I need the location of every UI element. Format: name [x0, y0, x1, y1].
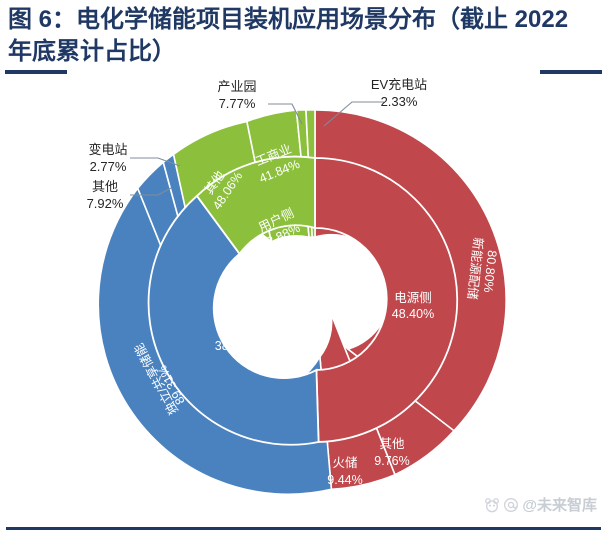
figure-title: 图 6：电化学储能项目装机应用场景分布（截止 2022 年底累计占比） — [8, 4, 598, 68]
watermark-text: @未来智库 — [522, 494, 597, 515]
callout-park-name: 产业园 — [217, 79, 256, 94]
inner-label-power-pct: 48.40% — [392, 307, 434, 321]
rule-top-right — [540, 70, 602, 74]
outer-label-power-other-name: 其他 — [379, 437, 405, 451]
outer-label-thermal-name: 火储 — [332, 455, 357, 470]
callout-ev-name: EV充电站 — [371, 78, 427, 92]
outer-label-power-other-pct: 9.76% — [374, 454, 409, 468]
inner-label-power-name: 电源侧 — [394, 291, 432, 305]
inner-label-grid-name: 电网侧 — [217, 323, 255, 337]
rule-top-left — [5, 70, 67, 74]
outer-label-thermal-pct: 9.44% — [327, 473, 362, 487]
callout-ev-pct: 2.33% — [381, 94, 418, 109]
figure-container: 图 6：电化学储能项目装机应用场景分布（截止 2022 年底累计占比） — [0, 0, 607, 539]
rule-bottom — [6, 527, 601, 530]
at-icon — [503, 497, 519, 513]
watermark: @未来智库 — [484, 494, 597, 515]
callout-substation-pct: 2.77% — [90, 159, 127, 174]
panda-icon — [484, 497, 500, 513]
callout-grid-other-name: 其他 — [92, 179, 118, 194]
inner-label-grid-pct: 38.72% — [215, 339, 257, 353]
donut-chart-svg: 电源侧 48.40% 电网侧 38.72% 用户侧 12.88% 新能源配储 8… — [0, 78, 607, 518]
callout-substation-name: 变电站 — [88, 142, 127, 157]
callout-park-pct: 7.77% — [219, 96, 256, 111]
donut-chart: 电源侧 48.40% 电网侧 38.72% 用户侧 12.88% 新能源配储 8… — [0, 78, 607, 518]
callout-grid-other-pct: 7.92% — [87, 196, 124, 211]
